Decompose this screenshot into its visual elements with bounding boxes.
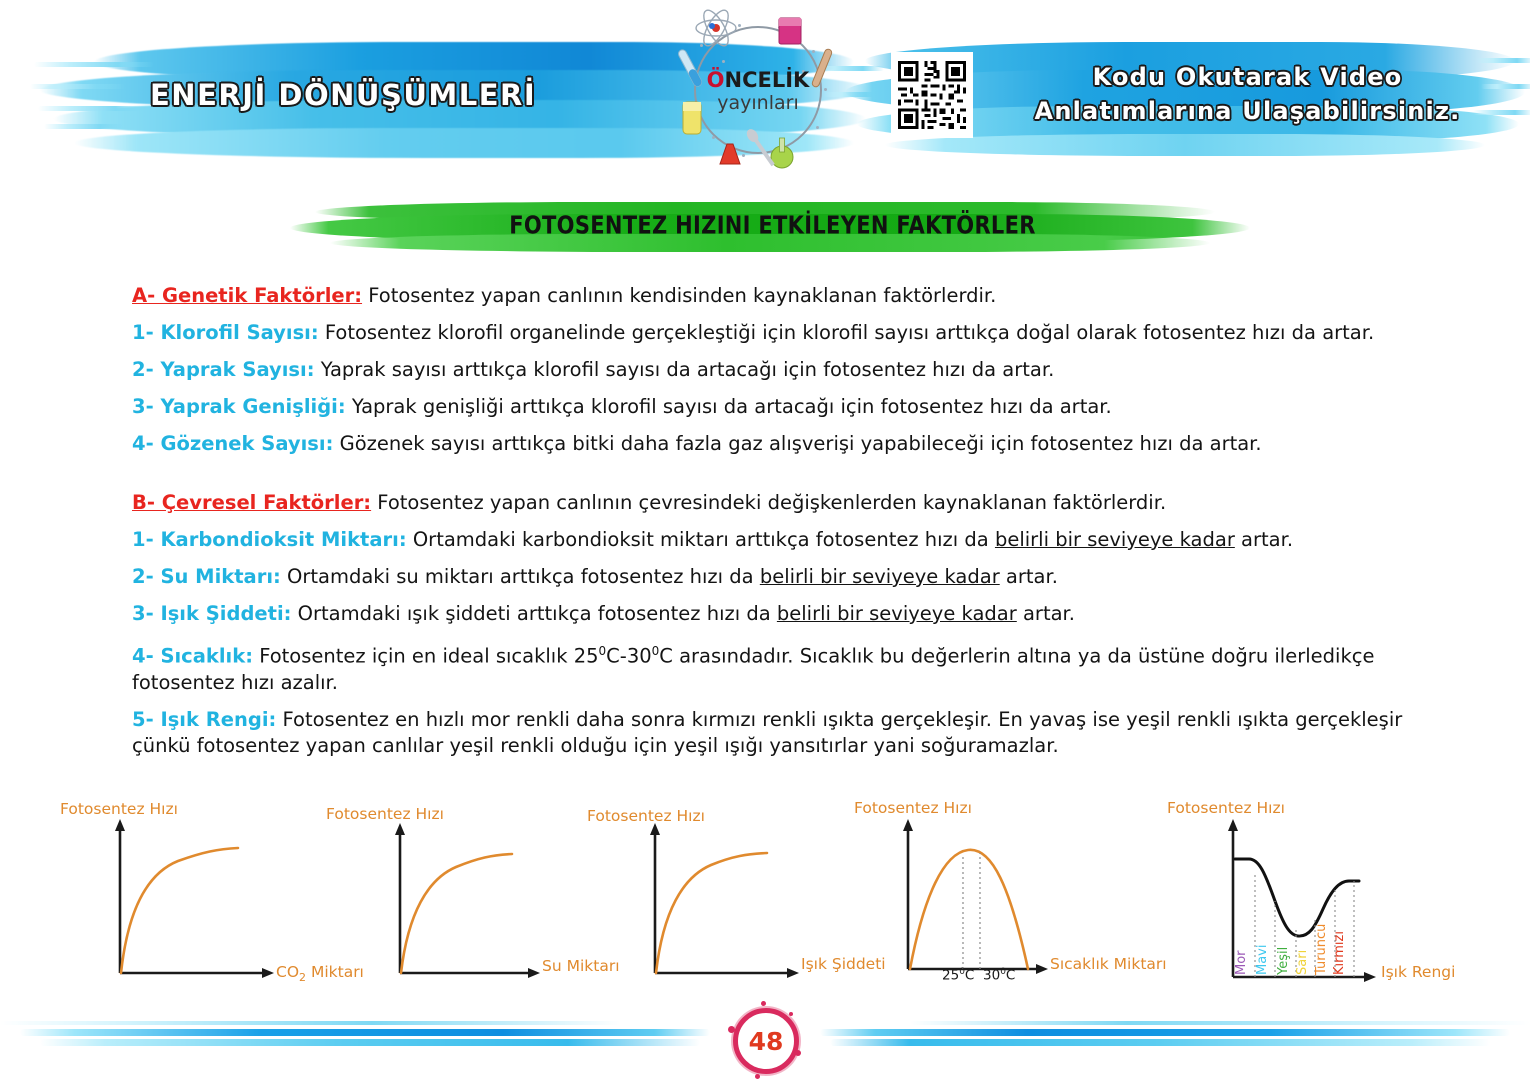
item-label: 3- Işık Şiddeti: <box>132 602 291 625</box>
light-color-graph-svg: Mor Mavi Yeşil Sarı Turuncu Kırmızı <box>1163 817 1523 997</box>
item-text-post: artar. <box>1000 565 1058 588</box>
temperature-graph: Fotosentez Hızı 250C 300C Sıcaklık Mikta… <box>850 795 1210 995</box>
pink-beaker-icon <box>779 18 801 44</box>
section-a-item-2: 2- Yaprak Sayısı: Yaprak sayısı arttıkça… <box>132 357 1422 383</box>
right-banner-line-2: Anlatımlarına Ulaşabilirsiniz. <box>975 94 1520 128</box>
section-a-item-4: 4- Gözenek Sayısı: Gözenek sayısı arttık… <box>132 431 1422 457</box>
temp-marker-25-unit: C <box>965 968 974 984</box>
item-text-pre: Ortamdaki su miktarı arttıkça fotosentez… <box>281 565 760 588</box>
temp-marker-30-unit: C <box>1006 968 1015 984</box>
item-text: Yaprak genişliği arttıkça klorofil sayıs… <box>346 395 1112 418</box>
qr-code-svg <box>895 56 969 134</box>
light-color-graph: Fotosentez Hızı Mor Mavi Yeşil Sarı Turu… <box>1163 795 1530 995</box>
x-axis-label-main: CO <box>276 963 299 981</box>
logo-text: ÖNCELİK yayınları <box>672 68 844 114</box>
qr-code-icon[interactable] <box>891 52 973 138</box>
item-text-pre: Ortamdaki ışık şiddeti arttıkça fotosent… <box>291 602 776 625</box>
y-axis-label: Fotosentez Hızı <box>1167 799 1285 817</box>
item-text-underline: belirli bir seviyeye kadar <box>995 528 1235 551</box>
item-text: Gözenek sayısı arttıkça bitki daha fazla… <box>333 432 1261 455</box>
section-title-banner: FOTOSENTEZ HIZINI ETKİLEYEN FAKTÖRLER <box>290 200 1255 256</box>
page-title: FOTOSENTEZ HIZINI ETKİLEYEN FAKTÖRLER <box>290 211 1255 239</box>
section-b-item-3: 3- Işık Şiddeti: Ortamdaki ışık şiddeti … <box>132 601 1422 627</box>
page-number: 48 <box>733 1008 799 1074</box>
item-text-mid-1: C-30 <box>606 645 651 668</box>
item-text: Yaprak sayısı arttıkça klorofil sayısı d… <box>315 358 1055 381</box>
spatula-icon <box>744 127 777 168</box>
logo-brand-initial: Ö <box>707 68 725 92</box>
section-b-item-5: 5- Işık Rengi: Fotosentez en hızlı mor r… <box>132 707 1422 759</box>
section-b-item-4: 4- Sıcaklık: Fotosentez için en ideal sı… <box>132 638 1422 696</box>
temp-marker-30-value: 30 <box>983 968 1000 984</box>
section-b-heading: B- Çevresel Faktörler: Fotosentez yapan … <box>132 490 1422 516</box>
logo-brand: ÖNCELİK <box>672 68 844 92</box>
graph-row: Fotosentez Hızı CO2 Miktarı Fotosentez H… <box>0 795 1530 995</box>
band-label-mavi: Mavi <box>1255 945 1270 976</box>
x-axis-label-sub: 2 <box>299 971 306 984</box>
x-axis-label: Sıcaklık Miktarı <box>1050 955 1167 973</box>
item-label: 2- Su Miktarı: <box>132 565 281 588</box>
item-text: Fotosentez en hızlı mor renkli daha sonr… <box>132 708 1402 757</box>
page-number-badge: 48 <box>733 1008 799 1074</box>
worksheet-page: ENERJİ DÖNÜŞÜMLERİ Kodu Okutarak Video A… <box>0 0 1530 1080</box>
section-a-text: Fotosentez yapan canlının kendisinden ka… <box>362 284 996 307</box>
red-flask-icon <box>720 144 740 164</box>
section-a-item-3: 3- Yaprak Genişliği: Yaprak genişliği ar… <box>132 394 1422 420</box>
item-text-pre: Fotosentez için en ideal sıcaklık 25 <box>253 645 599 668</box>
item-label: 5- Işık Rengi: <box>132 708 276 731</box>
band-label-yesil: Yeşil <box>1276 947 1291 976</box>
band-label-kirmizi: Kırmızı <box>1332 931 1347 975</box>
publisher-logo: ÖNCELİK yayınları <box>672 6 844 178</box>
band-label-turuncu: Turuncu <box>1314 924 1329 976</box>
section-b-text: Fotosentez yapan canlının çevresindeki d… <box>371 491 1166 514</box>
x-axis-label: Işık Rengi <box>1381 963 1455 981</box>
item-label: 2- Yaprak Sayısı: <box>132 358 315 381</box>
section-divider-space <box>132 468 1422 490</box>
right-banner-title: Kodu Okutarak Video Anlatımlarına Ulaşab… <box>975 60 1520 128</box>
section-a-item-1: 1- Klorofil Sayısı: Fotosentez klorofil … <box>132 320 1422 346</box>
temp-marker-30: 300C <box>983 967 1015 984</box>
item-text-pre: Ortamdaki karbondioksit miktarı arttıkça… <box>407 528 995 551</box>
logo-brand-rest: NCELİK <box>725 68 810 92</box>
section-b-item-1: 1- Karbondioksit Miktarı: Ortamdaki karb… <box>132 527 1422 553</box>
band-label-sari: Sarı <box>1295 950 1310 975</box>
section-b-label: B- Çevresel Faktörler: <box>132 491 371 514</box>
item-text-underline: belirli bir seviyeye kadar <box>760 565 1000 588</box>
item-text: Fotosentez klorofil organelinde gerçekle… <box>319 321 1375 344</box>
item-label: 4- Sıcaklık: <box>132 645 253 668</box>
y-axis-label: Fotosentez Hızı <box>854 799 972 817</box>
item-text-post: artar. <box>1017 602 1075 625</box>
right-banner-line-1: Kodu Okutarak Video <box>975 60 1520 94</box>
page-header: ENERJİ DÖNÜŞÜMLERİ Kodu Okutarak Video A… <box>0 0 1530 190</box>
item-label: 1- Klorofil Sayısı: <box>132 321 319 344</box>
item-label: 1- Karbondioksit Miktarı: <box>132 528 407 551</box>
item-label: 4- Gözenek Sayısı: <box>132 432 333 455</box>
temp-marker-25-value: 25 <box>942 968 959 984</box>
logo-subtitle: yayınları <box>672 92 844 114</box>
band-label-mor: Mor <box>1234 950 1249 975</box>
item-label: 3- Yaprak Genişliği: <box>132 395 346 418</box>
lesson-content: A- Genetik Faktörler: Fotosentez yapan c… <box>132 283 1422 770</box>
light-intensity-graph-svg <box>583 823 843 1003</box>
section-a-heading: A- Genetik Faktörler: Fotosentez yapan c… <box>132 283 1422 309</box>
item-text-underline: belirli bir seviyeye kadar <box>777 602 1017 625</box>
section-a-label: A- Genetik Faktörler: <box>132 284 362 307</box>
item-text-post: artar. <box>1235 528 1293 551</box>
temp-marker-25: 250C <box>942 967 974 984</box>
section-b-item-2: 2- Su Miktarı: Ortamdaki su miktarı artt… <box>132 564 1422 590</box>
atom-icon <box>696 7 736 50</box>
